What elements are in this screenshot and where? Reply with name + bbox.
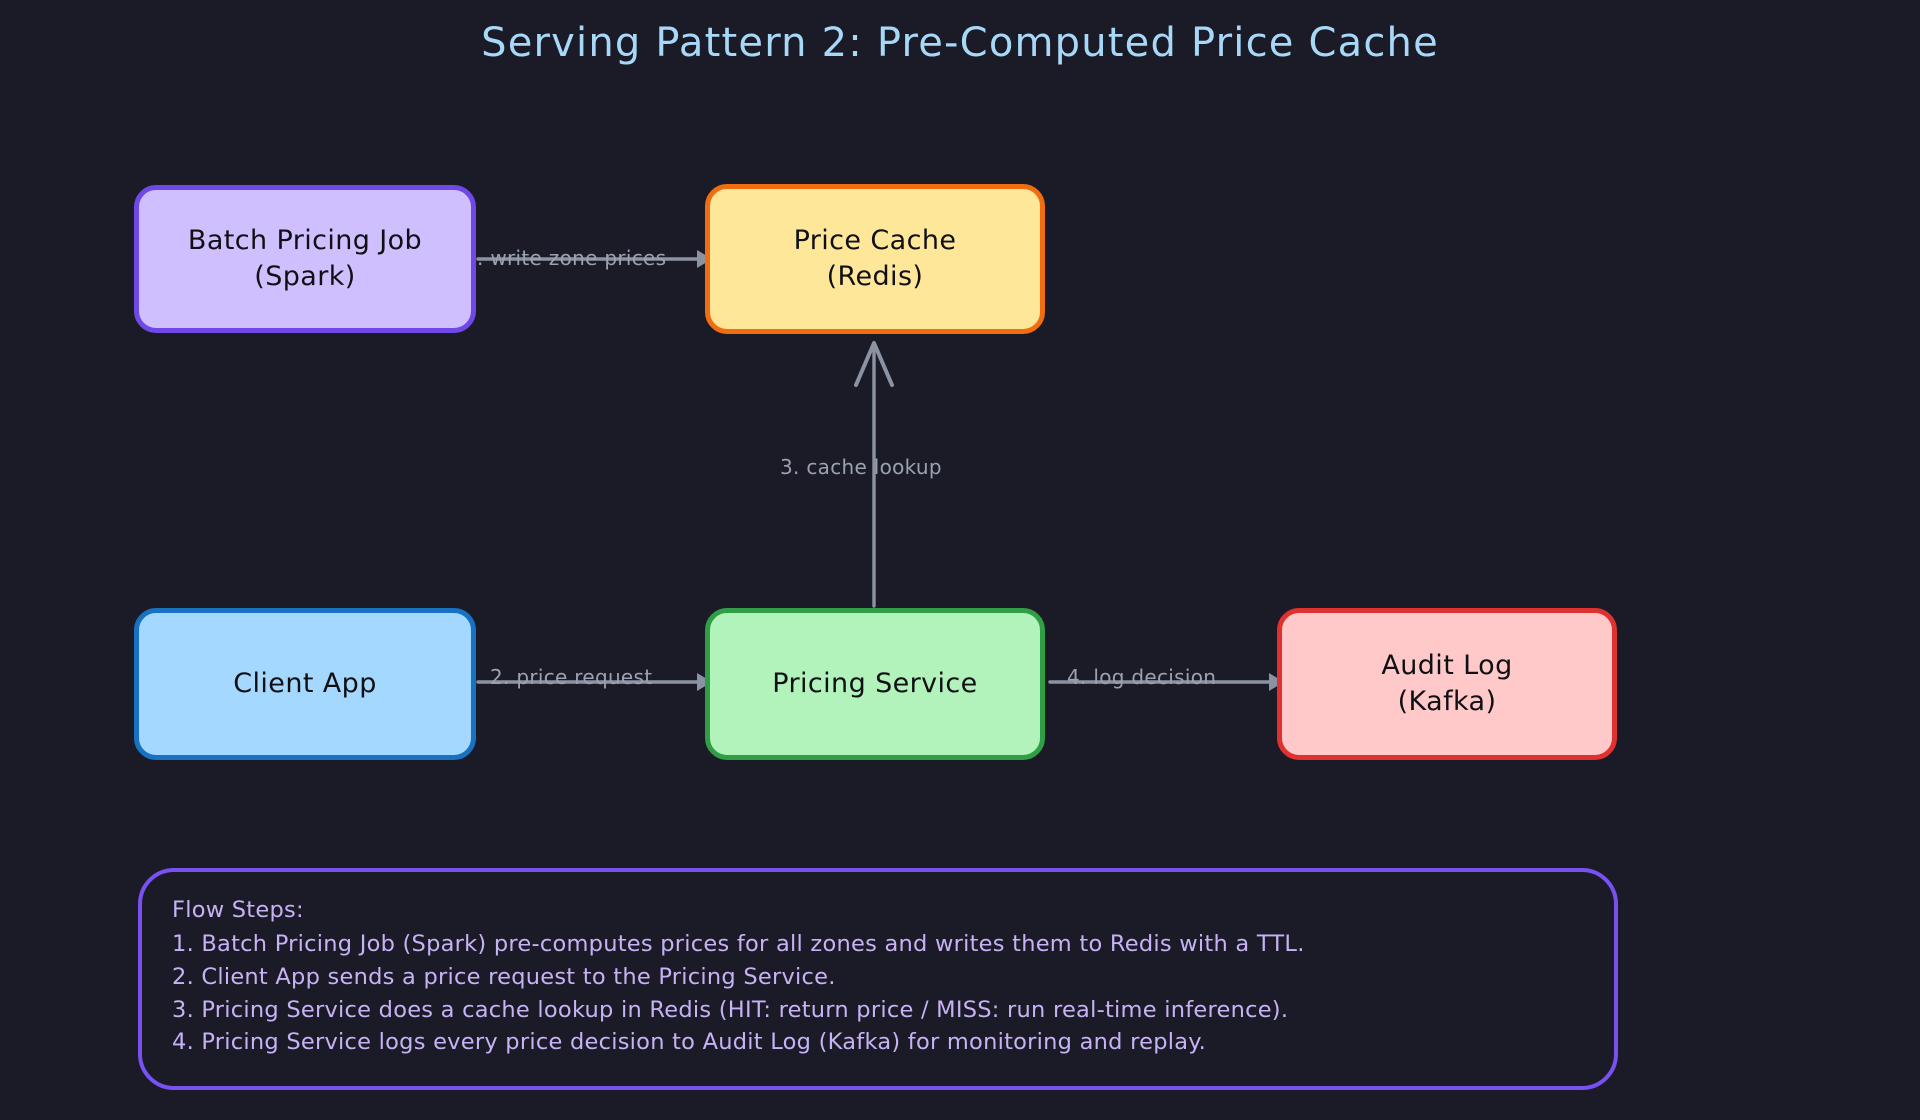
flow-step-4: 4. Pricing Service logs every price deci… xyxy=(172,1026,1586,1059)
flow-steps-heading: Flow Steps: xyxy=(172,894,1586,927)
node-client-app[interactable]: Client App xyxy=(134,608,476,760)
diagram-canvas: Serving Pattern 2: Pre-Computed Price Ca… xyxy=(0,0,1920,1120)
edge-label-price-request: 2. price request xyxy=(490,665,652,689)
flow-step-2: 2. Client App sends a price request to t… xyxy=(172,961,1586,994)
flow-steps-panel: Flow Steps: 1. Batch Pricing Job (Spark)… xyxy=(138,868,1618,1090)
node-audit-log[interactable]: Audit Log (Kafka) xyxy=(1277,608,1617,760)
flow-step-1: 1. Batch Pricing Job (Spark) pre-compute… xyxy=(172,928,1586,961)
node-client-app-label: Client App xyxy=(233,666,377,702)
edge-label-log-decision: 4. log decision xyxy=(1067,665,1216,689)
node-price-cache[interactable]: Price Cache (Redis) xyxy=(705,184,1045,334)
node-batch-pricing-job-label: Batch Pricing Job (Spark) xyxy=(188,223,422,294)
page-title: Serving Pattern 2: Pre-Computed Price Ca… xyxy=(0,20,1920,66)
node-audit-log-label: Audit Log (Kafka) xyxy=(1381,648,1512,719)
node-price-cache-label: Price Cache (Redis) xyxy=(794,223,957,294)
flow-step-3: 3. Pricing Service does a cache lookup i… xyxy=(172,994,1586,1027)
node-batch-pricing-job[interactable]: Batch Pricing Job (Spark) xyxy=(134,185,476,333)
edge-label-write-zone-prices: 1. write zone prices xyxy=(464,246,666,270)
node-pricing-service[interactable]: Pricing Service xyxy=(705,608,1045,760)
edge-label-cache-lookup: 3. cache lookup xyxy=(780,455,942,479)
node-pricing-service-label: Pricing Service xyxy=(772,666,977,702)
